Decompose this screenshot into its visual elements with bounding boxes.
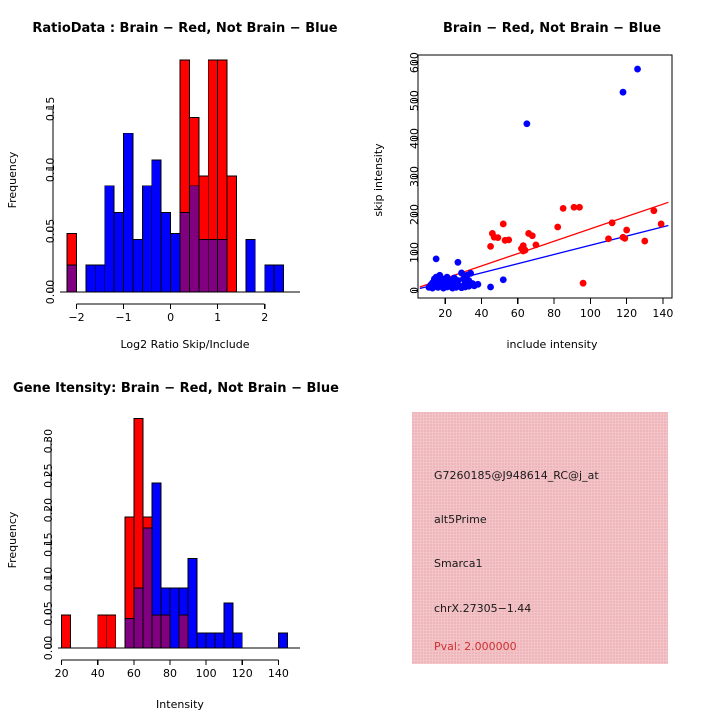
histogram-bar bbox=[206, 633, 215, 648]
gene-histogram-bars bbox=[62, 418, 288, 648]
scatter-point bbox=[641, 238, 648, 245]
x-axis-tick-label: 20 bbox=[438, 307, 452, 320]
panel-probe-info: G7260185@J948614_RC@j_at alt5Prime Smarc… bbox=[360, 360, 720, 720]
x-axis-tick-label: 140 bbox=[652, 307, 673, 320]
panel-gene-histogram: Gene Itensity: Brain − Red, Not Brain − … bbox=[0, 360, 360, 720]
gene-histogram-title: Gene Itensity: Brain − Red, Not Brain − … bbox=[13, 381, 339, 396]
histogram-bar bbox=[86, 265, 95, 292]
ratio-histogram-ylabel: Frequency bbox=[6, 151, 19, 208]
scatter-point bbox=[554, 224, 561, 231]
histogram-bar bbox=[227, 176, 236, 292]
histogram-bar-overlap bbox=[189, 186, 198, 292]
intensity-scatter-title: Brain − Red, Not Brain − Blue bbox=[443, 21, 661, 36]
histogram-bar bbox=[170, 588, 179, 648]
scatter-point bbox=[494, 234, 501, 241]
histogram-bar bbox=[133, 239, 142, 292]
ratio-histogram-title: RatioData : Brain − Red, Not Brain − Blu… bbox=[32, 21, 337, 36]
ratio-histogram-bars bbox=[67, 60, 283, 292]
scatter-point bbox=[487, 284, 494, 291]
scatter-point bbox=[474, 281, 481, 288]
x-axis-tick-label: −1 bbox=[115, 311, 131, 324]
probe-pval-text: Pval: 2.000000 bbox=[434, 640, 517, 653]
x-axis-tick-label: −2 bbox=[68, 311, 84, 324]
figure-canvas: RatioData : Brain − Red, Not Brain − Blu… bbox=[0, 0, 720, 720]
regression-line bbox=[420, 202, 669, 287]
x-axis-tick-label: 40 bbox=[475, 307, 489, 320]
scatter-point bbox=[634, 66, 641, 73]
x-axis-tick-label: 120 bbox=[616, 307, 637, 320]
histogram-bar-overlap bbox=[180, 213, 189, 292]
y-axis-tick-label: 300 bbox=[408, 166, 421, 187]
x-axis-tick-label: 80 bbox=[547, 307, 561, 320]
histogram-bar bbox=[152, 160, 161, 292]
y-axis-tick-label: 0.05 bbox=[44, 219, 57, 244]
histogram-bar-overlap bbox=[161, 615, 170, 648]
x-axis-tick-label: 40 bbox=[91, 667, 105, 680]
scatter-point bbox=[605, 235, 612, 242]
x-axis-tick-label: 140 bbox=[268, 667, 289, 680]
scatter-point bbox=[500, 276, 507, 283]
scatter-point bbox=[533, 241, 540, 248]
histogram-bar bbox=[62, 615, 71, 648]
histogram-bar-overlap bbox=[199, 239, 208, 292]
gene-histogram-svg: Gene Itensity: Brain − Red, Not Brain − … bbox=[0, 360, 360, 720]
y-axis-tick-label: 0.05 bbox=[42, 601, 55, 626]
x-axis-tick-label: 80 bbox=[163, 667, 177, 680]
scatter-point bbox=[487, 243, 494, 250]
y-axis-tick-label: 500 bbox=[408, 90, 421, 111]
scatter-point bbox=[658, 221, 665, 228]
histogram-bar-overlap bbox=[67, 265, 76, 292]
histogram-bar bbox=[107, 615, 116, 648]
histogram-bar bbox=[224, 603, 233, 648]
y-axis-tick-label: 200 bbox=[408, 204, 421, 225]
x-axis-tick-label: 100 bbox=[580, 307, 601, 320]
histogram-bar bbox=[188, 558, 197, 648]
scatter-point bbox=[529, 232, 536, 239]
scatter-point bbox=[623, 227, 630, 234]
histogram-bar bbox=[274, 265, 283, 292]
panel-ratio-histogram: RatioData : Brain − Red, Not Brain − Blu… bbox=[0, 0, 360, 360]
gene-histogram-xlabel: Intensity bbox=[156, 698, 204, 711]
y-axis-tick-label: 0.30 bbox=[42, 429, 55, 454]
scatter-point bbox=[650, 207, 657, 214]
scatter-point bbox=[505, 237, 512, 244]
histogram-bar bbox=[233, 633, 242, 648]
scatter-point bbox=[467, 270, 474, 277]
gene-histogram-ylabel: Frequency bbox=[6, 511, 19, 568]
histogram-bar-overlap bbox=[143, 528, 152, 648]
histogram-bar bbox=[161, 213, 170, 292]
histogram-bar bbox=[142, 186, 151, 292]
scatter-point bbox=[621, 235, 628, 242]
scatter-point bbox=[580, 280, 587, 287]
intensity-scatter-xlabel: include intensity bbox=[506, 338, 598, 351]
scatter-point bbox=[522, 247, 529, 254]
histogram-bar bbox=[215, 633, 224, 648]
histogram-bar bbox=[171, 233, 180, 292]
y-axis-tick-label: 0.00 bbox=[42, 636, 55, 661]
histogram-bar bbox=[197, 633, 206, 648]
probe-gene-symbol-text: Smarca1 bbox=[434, 557, 483, 570]
y-axis-tick-label: 0.10 bbox=[42, 567, 55, 592]
scatter-point bbox=[523, 120, 530, 127]
y-axis-tick-label: 0.20 bbox=[42, 498, 55, 523]
probe-locus-text: chrX.27305−1.44 bbox=[434, 602, 531, 615]
intensity-scatter-svg: Brain − Red, Not Brain − Blue include in… bbox=[360, 0, 720, 360]
intensity-scatter-ylabel: skip intensity bbox=[372, 143, 385, 217]
probe-event-type-text: alt5Prime bbox=[434, 513, 487, 526]
x-axis-tick-label: 2 bbox=[261, 311, 268, 324]
x-axis-tick-label: 20 bbox=[55, 667, 69, 680]
histogram-bar bbox=[95, 265, 104, 292]
x-axis-tick-label: 0 bbox=[167, 311, 174, 324]
x-axis-tick-label: 60 bbox=[511, 307, 525, 320]
histogram-bar bbox=[278, 633, 287, 648]
scatter-point bbox=[576, 204, 583, 211]
scatter-point bbox=[500, 221, 507, 228]
y-axis-tick-label: 100 bbox=[408, 242, 421, 263]
x-axis-tick-label: 120 bbox=[232, 667, 253, 680]
scatter-point bbox=[620, 89, 627, 96]
y-axis-tick-label: 0.10 bbox=[44, 158, 57, 183]
histogram-bar-overlap bbox=[152, 615, 161, 648]
y-axis-tick-label: 0 bbox=[408, 287, 421, 294]
scatter-point bbox=[609, 219, 616, 226]
histogram-bar bbox=[246, 239, 255, 292]
y-axis-tick-label: 400 bbox=[408, 128, 421, 149]
x-axis-tick-label: 1 bbox=[214, 311, 221, 324]
histogram-bar bbox=[114, 213, 123, 292]
histogram-bar bbox=[265, 265, 274, 292]
scatter-point bbox=[560, 205, 567, 212]
x-axis-tick-label: 60 bbox=[127, 667, 141, 680]
scatter-point bbox=[455, 259, 462, 266]
histogram-bar-overlap bbox=[218, 239, 227, 292]
intensity-scatter-points bbox=[420, 66, 669, 292]
y-axis-tick-label: 0.15 bbox=[42, 532, 55, 557]
probe-info-box: G7260185@J948614_RC@j_at alt5Prime Smarc… bbox=[412, 412, 668, 664]
x-axis-tick-label: 100 bbox=[196, 667, 217, 680]
histogram-bar bbox=[98, 615, 107, 648]
y-axis-tick-label: 0.25 bbox=[42, 463, 55, 488]
probe-id-text: G7260185@J948614_RC@j_at bbox=[434, 469, 599, 482]
histogram-bar-overlap bbox=[125, 618, 134, 648]
scatter-point bbox=[433, 255, 440, 262]
histogram-bar bbox=[105, 186, 114, 292]
histogram-bar bbox=[124, 133, 133, 292]
histogram-bar-overlap bbox=[179, 615, 188, 648]
histogram-bar-overlap bbox=[208, 239, 217, 292]
y-axis-tick-label: 0.00 bbox=[44, 280, 57, 305]
ratio-histogram-xlabel: Log2 Ratio Skip/Include bbox=[120, 338, 249, 351]
y-axis-tick-label: 600 bbox=[408, 52, 421, 73]
ratio-histogram-svg: RatioData : Brain − Red, Not Brain − Blu… bbox=[0, 0, 360, 360]
histogram-bar-overlap bbox=[134, 588, 143, 648]
y-axis-tick-label: 0.15 bbox=[44, 97, 57, 122]
panel-intensity-scatter: Brain − Red, Not Brain − Blue include in… bbox=[360, 0, 720, 360]
